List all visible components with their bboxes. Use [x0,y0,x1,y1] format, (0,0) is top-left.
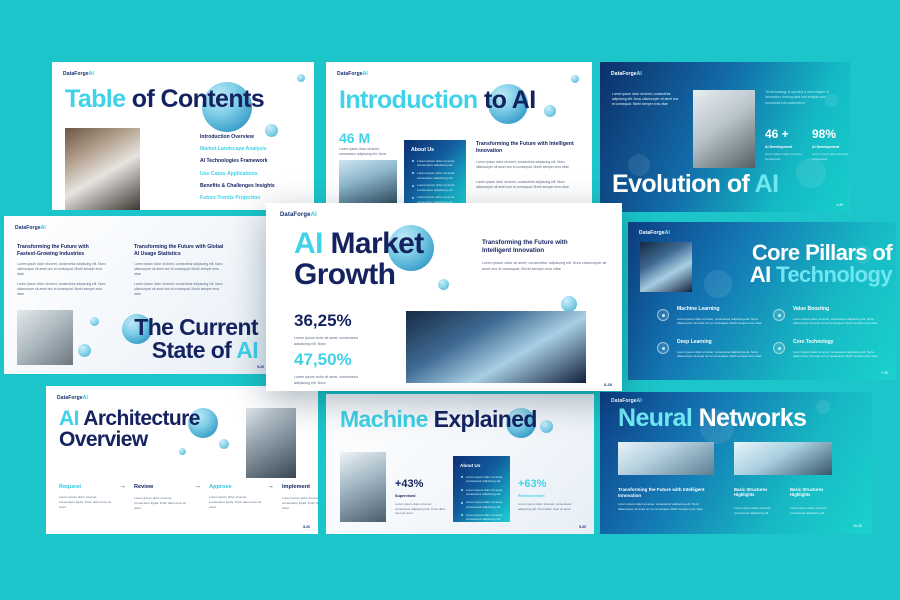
page-number: 7-20 [881,371,888,375]
pillar-bullet-icon [773,342,785,354]
slide-photo-robot-crowd [406,311,586,383]
stat-value: 47,50% [294,350,372,370]
section-heading: Transforming the Future with Intelligent… [618,487,708,499]
pillar-title: Machine Learning [677,306,769,313]
pillar-title: Value Boosting [793,306,885,313]
pillar-bullet-icon [773,309,785,321]
about-us-item: Lorem ipsum dolor sit amet, consectetur … [412,183,460,192]
stat-label: Reinforcement [518,494,572,498]
slide-machine-explained[interactable]: Machine Explained +43% Supervised Lorem … [326,394,594,534]
step-text: Lorem ipsum dolor sit amet, consectetur … [209,495,261,509]
brand-name: DataForge [63,71,89,77]
stat-caption: Lorem ipsum dolor sit amet, consectetur … [518,502,572,511]
decorative-bubble-small [540,420,553,433]
arrow-right-icon: → [119,483,126,490]
process-step: Implement Lorem ipsum dolor sit amet, co… [282,484,318,511]
about-us-item: Lorem ipsum dolor sit amet, consectetur … [461,488,505,497]
pillar-text: Lorem ipsum dolor sit amet, consectetur … [793,317,885,326]
toc-item[interactable]: Introduction Overview [200,134,308,140]
brand-suffix: AI [89,71,94,77]
about-us-item: Lorem ipsum dolor sit amet, consectetur … [461,500,505,509]
pillar-title: Deep Learning [677,339,769,346]
decorative-bubble-tiny [297,74,305,82]
brand-logo: DataForgeAI [639,230,670,236]
stat-block: 46 + AI Development Lorem ipsum dolor si… [765,127,807,161]
brand-logo: DataForgeAI [63,71,94,77]
pillar-item: Deep Learning Lorem ipsum dolor sit amet… [677,339,769,359]
toc-item[interactable]: Benefits & Challenges Insights [200,183,308,189]
process-step: Approve Lorem ipsum dolor sit amet, cons… [209,484,261,509]
card-text: Lorem ipsum dolor sit amet, consectetur … [734,506,782,515]
page-number: 10-20 [853,524,862,528]
info-card: Basic Structures Highlights Lorem ipsum … [790,487,838,515]
decorative-bubble-small [544,105,556,117]
slide-photo-white-robot [640,242,692,292]
quote-text: "AI technology is opening a new chapter … [765,90,841,106]
page-number: 4-20 [836,203,843,207]
step-text: Lorem ipsum dolor sit amet, consectetur … [282,496,318,510]
stat-caption: Lorem ipsum dolor sit amet, consectetur [765,152,807,161]
stat-value: +43% [395,478,447,490]
stat-value: +63% [518,478,572,490]
pillar-item: Machine Learning Lorem ipsum dolor sit a… [677,306,769,326]
page-title: Neural Networks [618,406,806,432]
stat-block: +43% Supervised Lorem ipsum dolor sit am… [395,478,447,516]
brand-logo: DataForgeAI [57,395,88,401]
decorative-bubble-small [219,439,229,449]
brand-logo: DataForgeAI [337,71,368,77]
arrow-right-icon: → [267,483,274,490]
stat-value: 98% [812,127,850,141]
slide-table-of-contents[interactable]: DataForgeAI Table of Contents Introducti… [52,62,314,210]
stat-caption: Lorem ipsum dolor sit amet, consectetur … [339,147,397,157]
section-heading: Transforming the Future with Intelligent… [482,239,594,255]
page-title: Introduction to AI [339,88,536,114]
toc-item[interactable]: Use Cases Applications [200,171,308,177]
slide-ai-architecture-overview[interactable]: DataForgeAI AI Architecture Overview Req… [46,386,318,534]
section-paragraph: Lorem ipsum dolor sit amet, consectetur … [482,261,608,272]
stat-caption: Lorem ipsum dolor sit amet, consectetur … [294,336,372,347]
step-text: Lorem ipsum dolor sit amet, consectetur … [134,496,186,510]
stat-block: 98% AI Development Lorem ipsum dolor sit… [812,127,850,161]
process-step: Review Lorem ipsum dolor sit amet, conse… [134,484,186,511]
about-us-item: Lorem ipsum dolor sit amet, consectetur … [461,475,505,484]
pillar-bullet-icon [657,342,669,354]
column-paragraph: Lorem ipsum dolor sit amet, consectetur … [134,262,226,277]
slide-photo-robot-arm [734,442,832,475]
slide-photo-man-with-robot [246,408,296,478]
page-number: 8-20 [303,525,310,529]
card-text: Lorem ipsum dolor sit amet, consectetur … [790,506,838,515]
page-title: Evolution of AI [612,172,778,198]
slide-photo-robot-portrait [693,90,755,168]
slide-photo-robot [65,128,140,210]
step-text: Lorem ipsum dolor sit amet, consectetur … [59,495,111,509]
column-paragraph: Lorem ipsum dolor sit amet, consectetur … [17,262,107,277]
about-us-item: Lorem ipsum dolor sit amet, consectetur … [412,171,460,180]
info-card: Basic Structures Highlights Lorem ipsum … [734,487,782,515]
section-heading: Transforming the Future with Intelligent… [476,141,578,155]
page-number: 6-20 [604,382,612,387]
process-step: Request Lorem ipsum dolor sit amet, cons… [59,484,111,509]
pillar-item: Core Technology Lorem ipsum dolor sit am… [793,339,885,359]
slide-introduction-to-ai[interactable]: DataForgeAI Introduction to AI 46 M Lore… [326,62,592,210]
stat-block: 36,25% Lorem ipsum dolor sit amet, conse… [294,311,372,347]
presentation-mockup-canvas: DataForgeAI Table of Contents Introducti… [0,0,900,600]
column-paragraph: Lorem ipsum dolor sit amet, consectetur … [134,282,226,297]
page-number: 5-20 [257,365,264,369]
about-us-list: Lorem ipsum dolor sit amet, consectetur … [461,475,505,522]
section-paragraph: Lorem ipsum dolor sit amet, consectetur … [476,160,576,170]
pillar-text: Lorem ipsum dolor sit amet, consectetur … [793,350,885,359]
section-paragraph: Lorem ipsum dolor sit amet, consectetur … [618,502,708,511]
card-heading: Basic Structures Highlights [734,487,782,498]
slide-neural-networks[interactable]: DataForgeAI Neural Networks Transforming… [600,392,872,534]
decorative-bubble-tiny [571,75,579,83]
brand-logo: DataForgeAI [15,225,46,231]
stat-value: 46 M [339,130,370,146]
slide-photo-robot-hand [17,310,73,365]
page-title: Table of Contents [65,87,264,113]
stat-caption: Lorem ipsum dolor sit amet, consectetur … [294,375,372,386]
pillar-item: Value Boosting Lorem ipsum dolor sit ame… [793,306,885,326]
pillar-text: Lorem ipsum dolor sit amet, consectetur … [677,317,769,326]
page-title: Machine Explained [340,408,537,431]
about-us-title: About Us [460,463,480,468]
stat-block: +63% Reinforcement Lorem ipsum dolor sit… [518,478,572,511]
pillar-text: Lorem ipsum dolor sit amet, consectetur … [677,350,769,359]
slide-ai-market-growth[interactable]: DataForgeAI AI Market Growth Transformin… [266,203,622,391]
pillar-bullet-icon [657,309,669,321]
stat-caption: Lorem ipsum dolor sit amet, consectetur … [395,502,447,516]
pillar-title: Core Technology [793,339,885,346]
page-title: AI Market Growth [294,229,424,290]
page-number: 9-20 [579,525,586,529]
decorative-bubble-ghost [816,400,830,414]
column-heading: Transforming the Future with Global AI U… [134,244,226,258]
toc-item[interactable]: Future Trends Projection [200,195,308,201]
stat-caption: Lorem ipsum dolor sit amet, consectetur [812,152,850,161]
card-heading: Basic Structures Highlights [790,487,838,498]
toc-list: Introduction Overview Market Landscape A… [200,134,308,201]
slide-photo-robot-pool [339,160,397,205]
stat-value: 46 + [765,127,807,141]
decorative-bubble-small [78,344,91,357]
step-title: Request [59,484,111,490]
about-us-box: About Us Lorem ipsum dolor sit amet, con… [404,140,466,205]
brand-logo: DataForgeAI [611,71,642,77]
stat-block: 47,50% Lorem ipsum dolor sit amet, conse… [294,350,372,386]
decorative-bubble-small [90,317,99,326]
page-title: Core Pillars of AI Technology [712,242,892,287]
step-title: Review [134,484,186,491]
decorative-bubble-ghost [796,158,826,188]
decorative-bubble-small [561,296,577,312]
column-paragraph: Lorem ipsum dolor sit amet, consectetur … [17,282,107,297]
about-us-item: Lorem ipsum dolor sit amet, consectetur … [461,513,505,522]
about-us-title: About Us [411,147,434,153]
stat-label: AI Development [765,145,807,149]
slide-photo-robot-person [340,452,386,522]
slide-core-pillars[interactable]: DataForgeAI Core Pillars of AI Technolog… [628,222,896,380]
slide-evolution-of-ai[interactable]: DataForgeAI Lorem ipsum dolor sit amet, … [600,62,850,212]
stat-label: AI Development [812,145,850,149]
about-us-box: About Us Lorem ipsum dolor sit amet, con… [453,456,510,522]
toc-item[interactable]: Market Landscape Analysis [200,146,308,152]
page-title: The Current State of AI [128,316,258,363]
page-title: AI Architecture Overview [59,408,200,451]
slide-current-state-of-ai[interactable]: DataForgeAI Transforming the Future with… [4,216,272,374]
step-title: Approve [209,484,261,490]
stat-label: Supervised [395,494,447,498]
step-title: Implement [282,484,318,491]
toc-item[interactable]: AI Technologies Framework [200,158,308,164]
section-paragraph: Lorem ipsum dolor sit amet, consectetur … [476,180,576,190]
brand-logo: DataForgeAI [280,212,317,218]
slide-photo-small-robot [618,442,714,475]
intro-paragraph: Lorem ipsum dolor sit amet, consectetur … [612,92,680,107]
arrow-right-icon: → [194,483,201,490]
stat-value: 36,25% [294,311,372,331]
about-us-item: Lorem ipsum dolor sit amet, consectetur … [412,159,460,168]
column-heading: Transforming the Future with Fastest-Gro… [17,244,107,258]
decorative-bubble-small [438,279,449,290]
